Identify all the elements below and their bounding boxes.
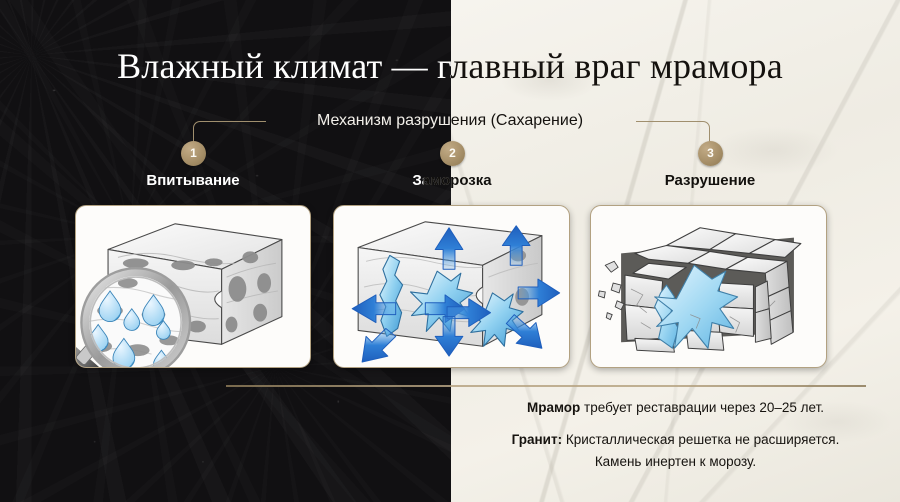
marble-block-water-droplets-magnifier-icon (76, 206, 310, 367)
step-panel-1[interactable] (75, 205, 311, 368)
note-granite-bold: Гранит: (512, 432, 562, 447)
section-divider (226, 385, 866, 387)
page-title: Влажный климат — главный враг мрамора Вл… (0, 44, 900, 88)
step-label-2-text-overlay: Заморозка (412, 172, 491, 189)
note-marble-rest: требует реставрации через 20–25 лет. (580, 400, 824, 415)
slide-stage: Влажный климат — главный враг мрамора Вл… (0, 0, 900, 502)
step-badge-2[interactable]: 2 (440, 141, 465, 166)
note-granite-rest: Кристаллическая решетка не расширяется. (562, 432, 839, 447)
note-marble: Мрамор требует реставрации через 20–25 л… (451, 398, 900, 418)
marble-block-cracked-crumbling-icon (591, 206, 826, 367)
step-badge-1[interactable]: 1 (181, 141, 206, 166)
note-marble-bold: Мрамор (527, 400, 580, 415)
marble-block-ice-expansion-arrows-icon (334, 206, 569, 367)
note-granite-line2: Камень инертен к морозу. (451, 452, 900, 472)
step-badge-3[interactable]: 3 (698, 141, 723, 166)
connector-line-right (636, 121, 710, 147)
step-label-2: Заморозка Заморозка (412, 172, 491, 189)
note-granite-line1: Гранит: Кристаллическая решетка не расши… (451, 430, 900, 450)
step-panel-2[interactable] (333, 205, 570, 368)
step-label-3: Разрушение (665, 172, 756, 189)
step-label-1: Впитывание (146, 172, 239, 189)
step-panel-3[interactable] (590, 205, 827, 368)
connector-line-left (193, 121, 266, 147)
